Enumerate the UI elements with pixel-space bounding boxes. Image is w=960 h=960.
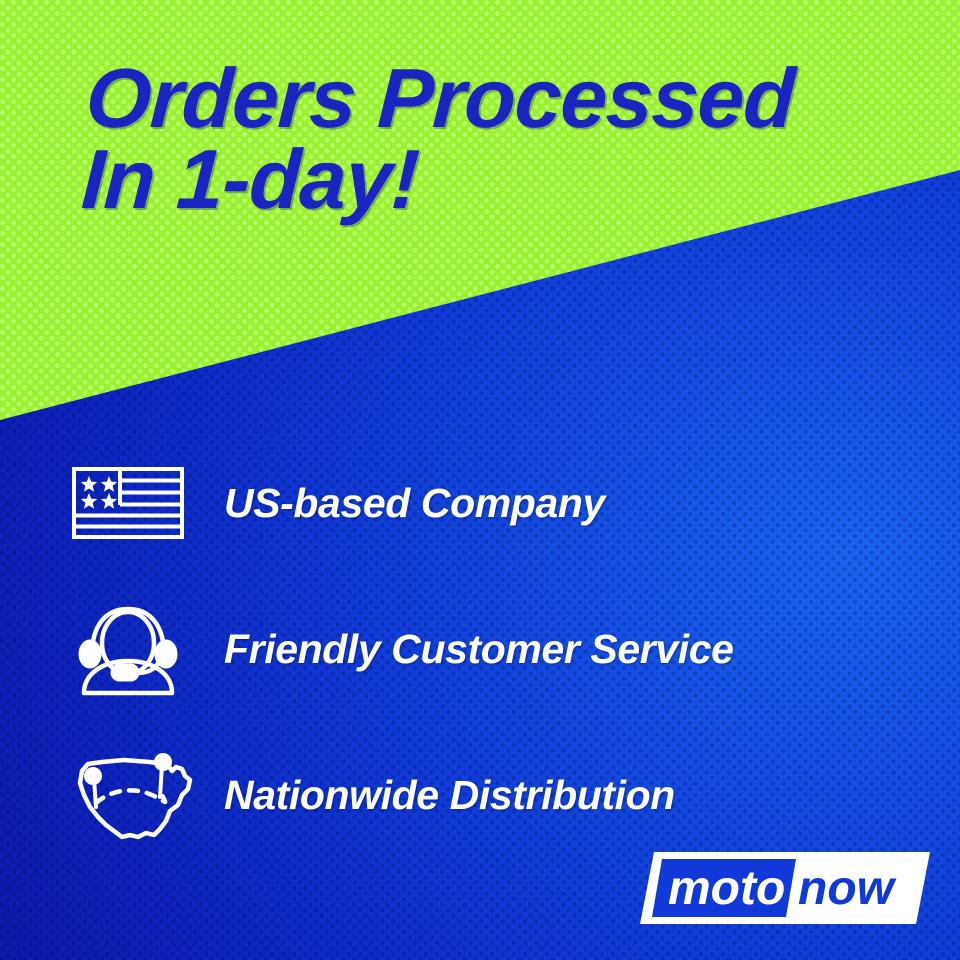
us-map-pins-icon [72,749,202,841]
us-flag-icon [72,467,202,539]
headline-line-1: Orders Processed [84,58,918,139]
headline-line-2: In 1-day! [80,139,914,220]
feature-row-customer-service: Friendly Customer Service [0,576,960,722]
logo-word-moto: moto [668,862,785,915]
feature-label-distribution: Nationwide Distribution [224,772,675,819]
feature-label-us-based: US-based Company [224,480,605,527]
headline: Orders Processed In 1-day! [80,58,919,221]
feature-list: US-based Company [0,430,960,868]
feature-label-customer-service: Friendly Customer Service [224,626,734,673]
feature-row-us-based: US-based Company [0,430,960,576]
promo-poster: Orders Processed In 1-day! [0,0,960,960]
feature-row-distribution: Nationwide Distribution [0,722,960,868]
headset-agent-icon [72,601,202,697]
motonow-logo[interactable]: moto now [640,852,930,924]
logo-word-now: now [798,862,897,915]
